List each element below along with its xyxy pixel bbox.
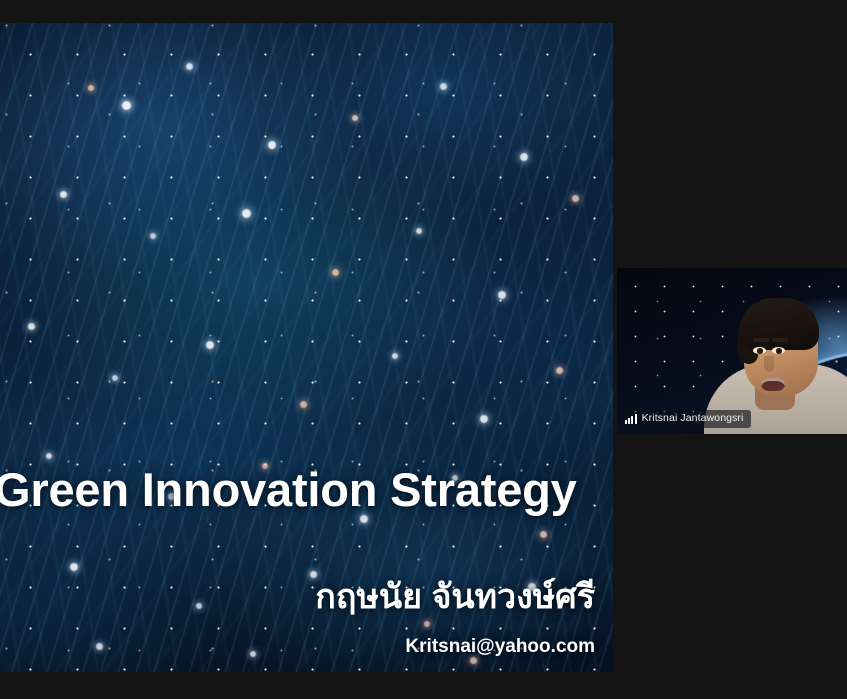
meeting-screen-share-view: Green Innovation Strategy กฤษนัย จันทวงษ… bbox=[0, 0, 847, 699]
participant-name-text: Kritsnai Jantawongsri bbox=[642, 412, 744, 425]
participant-eyebrow-right bbox=[772, 338, 788, 342]
participant-name-label: Kritsnai Jantawongsri bbox=[619, 410, 751, 428]
slide-author-name: กฤษนัย จันทวงษ์ศรี bbox=[315, 579, 595, 616]
slide-bokeh-dots bbox=[0, 23, 613, 672]
participant-eyebrow-left bbox=[753, 338, 769, 342]
signal-strength-icon bbox=[625, 414, 637, 424]
shared-presentation-slide[interactable]: Green Innovation Strategy กฤษนัย จันทวงษ… bbox=[0, 23, 613, 672]
participant-video-tile[interactable]: Kritsnai Jantawongsri bbox=[617, 268, 847, 434]
participant-mouth bbox=[761, 378, 785, 391]
participant-nose bbox=[764, 356, 774, 372]
slide-author-email: Kritsnai@yahoo.com bbox=[405, 637, 595, 658]
participant-figure bbox=[617, 268, 847, 434]
participant-hair bbox=[739, 298, 819, 350]
slide-title: Green Innovation Strategy bbox=[0, 466, 594, 515]
